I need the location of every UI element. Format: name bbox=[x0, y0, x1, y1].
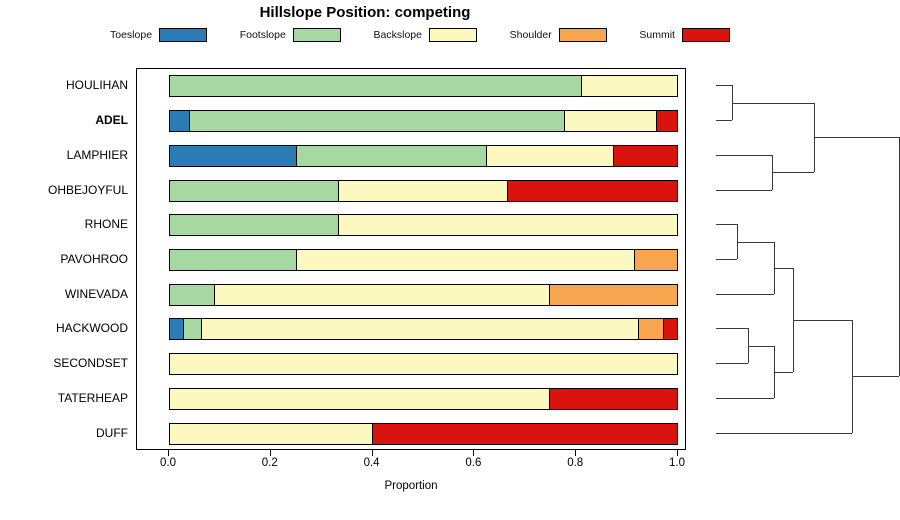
row-label: HACKWOOD bbox=[56, 321, 128, 335]
bar-row bbox=[169, 388, 678, 410]
bar-row bbox=[169, 75, 678, 97]
bar-segment-shoulder bbox=[550, 285, 677, 305]
bar-segment-backslope bbox=[170, 424, 373, 444]
legend-swatch-backslope bbox=[429, 28, 477, 42]
bar-segment-summit bbox=[373, 424, 677, 444]
legend: ToeslopeFootslopeBackslopeShoulderSummit bbox=[110, 26, 730, 44]
bar-segment-footslope bbox=[297, 146, 487, 166]
legend-label: Shoulder bbox=[510, 29, 552, 41]
bar-row bbox=[169, 353, 678, 375]
bar-segment-footslope bbox=[190, 111, 565, 131]
bar-segment-backslope bbox=[582, 76, 677, 96]
bar-segment-backslope bbox=[170, 389, 550, 409]
x-tick-label: 0.4 bbox=[364, 457, 380, 469]
legend-swatch-shoulder bbox=[559, 28, 607, 42]
dendrogram-branch bbox=[772, 172, 814, 173]
x-axis-label: Proportion bbox=[136, 480, 686, 492]
x-tick bbox=[270, 450, 271, 456]
bar-segment-backslope bbox=[297, 250, 635, 270]
legend-item-backslope: Backslope bbox=[374, 28, 477, 42]
bar-segment-summit bbox=[550, 389, 677, 409]
x-tick bbox=[677, 450, 678, 456]
stacked-bars bbox=[137, 69, 687, 451]
row-label: TATERHEAP bbox=[58, 391, 128, 405]
row-label: LAMPHIER bbox=[67, 148, 128, 162]
legend-swatch-summit bbox=[682, 28, 730, 42]
bar-segment-backslope bbox=[339, 181, 508, 201]
legend-label: Backslope bbox=[374, 29, 422, 41]
bar-segment-footslope bbox=[184, 319, 203, 339]
bar-row bbox=[169, 110, 678, 132]
dendrogram-branch bbox=[793, 320, 852, 321]
bar-segment-toeslope bbox=[170, 146, 297, 166]
legend-label: Summit bbox=[639, 29, 675, 41]
x-tick-label: 0.8 bbox=[567, 457, 583, 469]
x-axis: Proportion 0.00.20.40.60.81.0 bbox=[136, 450, 686, 490]
bar-segment-footslope bbox=[170, 181, 339, 201]
x-tick bbox=[575, 450, 576, 456]
chart-title: Hillslope Position: competing bbox=[0, 4, 730, 21]
bar-segment-summit bbox=[508, 181, 677, 201]
bar-segment-shoulder bbox=[639, 319, 664, 339]
row-label: DUFF bbox=[96, 426, 128, 440]
legend-item-summit: Summit bbox=[639, 28, 730, 42]
x-tick bbox=[168, 450, 169, 456]
row-label: PAVOHROO bbox=[60, 252, 128, 266]
dendrogram-branch bbox=[716, 294, 774, 295]
x-tick-label: 0.0 bbox=[160, 457, 176, 469]
dendrogram-branch bbox=[716, 224, 737, 225]
row-label: SECONDSET bbox=[53, 356, 128, 370]
bar-segment-toeslope bbox=[170, 111, 190, 131]
x-tick bbox=[372, 450, 373, 456]
dendrogram-branch bbox=[774, 268, 793, 269]
dendrogram-branch bbox=[716, 363, 748, 364]
bar-row bbox=[169, 249, 678, 271]
row-label: WINEVADA bbox=[65, 287, 128, 301]
x-tick-label: 0.6 bbox=[465, 457, 481, 469]
bar-segment-backslope bbox=[215, 285, 551, 305]
bar-segment-footslope bbox=[170, 285, 215, 305]
bar-segment-shoulder bbox=[635, 250, 677, 270]
dendrogram-branch bbox=[716, 120, 732, 121]
bar-segment-toeslope bbox=[170, 319, 184, 339]
legend-swatch-footslope bbox=[293, 28, 341, 42]
bar-segment-backslope bbox=[487, 146, 614, 166]
legend-item-shoulder: Shoulder bbox=[510, 28, 607, 42]
dendrogram-branch bbox=[716, 190, 772, 191]
dendrogram-branch bbox=[716, 433, 852, 434]
x-tick-label: 1.0 bbox=[669, 457, 685, 469]
dendrogram-branch bbox=[852, 376, 899, 377]
bar-row bbox=[169, 214, 678, 236]
dendrogram-branch bbox=[732, 103, 814, 104]
row-label: ADEL bbox=[95, 113, 128, 127]
bar-segment-summit bbox=[664, 319, 677, 339]
bar-segment-footslope bbox=[170, 250, 297, 270]
dendrogram-branch bbox=[716, 155, 772, 156]
dendrogram-branch bbox=[716, 259, 737, 260]
dendrogram-branch bbox=[748, 346, 774, 347]
dendrogram-branch bbox=[716, 398, 774, 399]
row-label: RHONE bbox=[85, 217, 128, 231]
row-label: OHBEJOYFUL bbox=[48, 183, 128, 197]
bar-row bbox=[169, 145, 678, 167]
legend-item-toeslope: Toeslope bbox=[110, 28, 207, 42]
bar-segment-backslope bbox=[339, 215, 677, 235]
bar-segment-backslope bbox=[170, 354, 677, 374]
dendrogram-branch bbox=[814, 137, 899, 138]
x-tick-label: 0.2 bbox=[262, 457, 278, 469]
bar-row bbox=[169, 284, 678, 306]
legend-label: Toeslope bbox=[110, 29, 152, 41]
x-tick bbox=[473, 450, 474, 456]
dendrogram bbox=[694, 68, 894, 450]
legend-swatch-toeslope bbox=[159, 28, 207, 42]
dendrogram-branch bbox=[737, 242, 774, 243]
plot-panel bbox=[136, 68, 686, 450]
bar-row bbox=[169, 180, 678, 202]
bar-segment-footslope bbox=[170, 76, 582, 96]
legend-label: Footslope bbox=[240, 29, 286, 41]
bar-row bbox=[169, 423, 678, 445]
bar-segment-backslope bbox=[565, 111, 656, 131]
bar-segment-backslope bbox=[202, 319, 639, 339]
bar-segment-summit bbox=[657, 111, 677, 131]
legend-item-footslope: Footslope bbox=[240, 28, 341, 42]
dendrogram-branch bbox=[716, 328, 748, 329]
bar-segment-footslope bbox=[170, 215, 339, 235]
dendrogram-branch bbox=[716, 85, 732, 86]
dendrogram-branch bbox=[774, 372, 793, 373]
chart-root: Hillslope Position: competing ToeslopeFo… bbox=[0, 0, 900, 520]
row-label-column: HOULIHANADELLAMPHIEROHBEJOYFULRHONEPAVOH… bbox=[0, 68, 132, 450]
row-label: HOULIHAN bbox=[66, 78, 128, 92]
bar-row bbox=[169, 318, 678, 340]
bar-segment-summit bbox=[614, 146, 677, 166]
